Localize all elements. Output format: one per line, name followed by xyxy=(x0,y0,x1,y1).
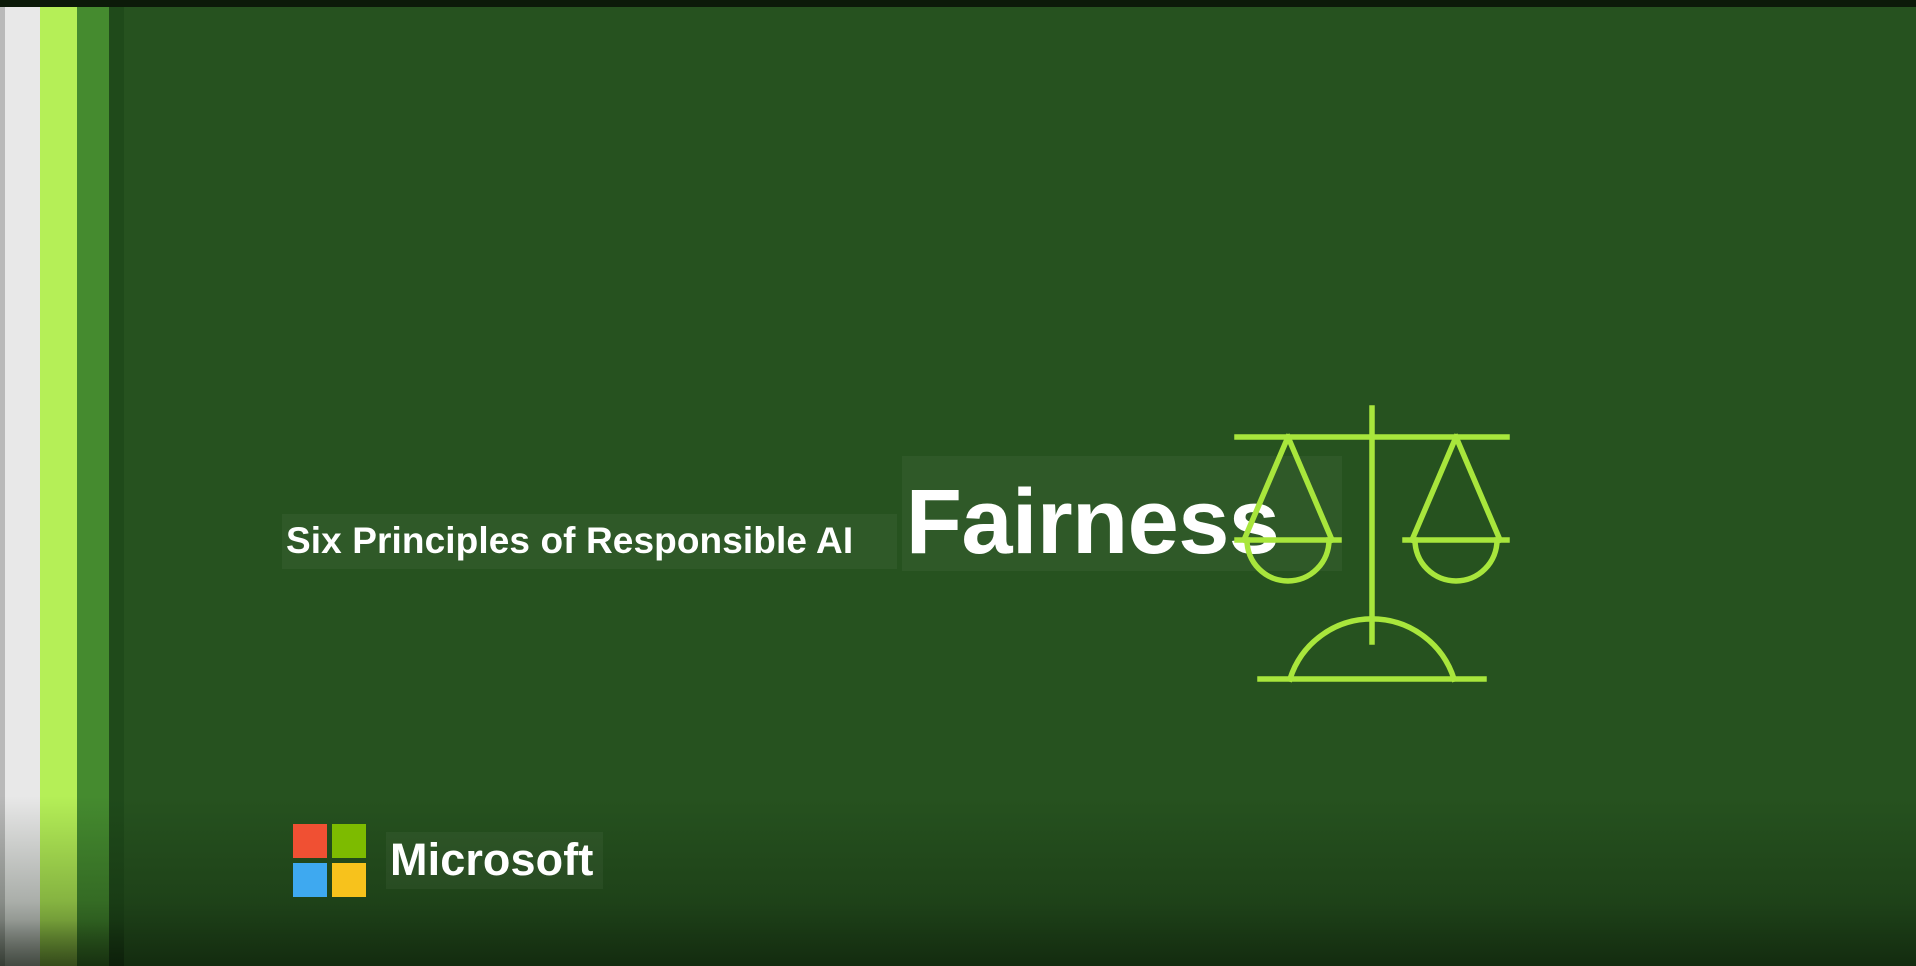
yellow-square-icon xyxy=(332,863,366,897)
scales-left-string-b xyxy=(1288,437,1332,540)
blue-square-icon xyxy=(293,863,327,897)
scales-svg xyxy=(1222,390,1522,690)
microsoft-logo xyxy=(293,824,366,897)
slide-text-block: Six Principles of Responsible AI Fairnes… xyxy=(282,443,1342,571)
subtitle-highlight: Six Principles of Responsible AI xyxy=(282,514,897,569)
green-square-icon xyxy=(332,824,366,858)
bottom-shade-overlay xyxy=(0,796,1916,966)
stripe-dark-green xyxy=(109,0,124,966)
microsoft-wordmark: Microsoft xyxy=(390,837,593,882)
scales-right-pan-bowl xyxy=(1415,540,1497,581)
stripe-mid-green xyxy=(77,0,109,966)
balance-scales-icon xyxy=(1222,390,1522,690)
slide-subtitle: Six Principles of Responsible AI xyxy=(286,521,853,560)
left-accent-stripes xyxy=(0,0,124,966)
scales-left-pan-bowl xyxy=(1247,540,1329,581)
stripe-white xyxy=(5,0,40,966)
red-square-icon xyxy=(293,824,327,858)
stripe-lime xyxy=(40,0,77,966)
presentation-slide: Six Principles of Responsible AI Fairnes… xyxy=(0,0,1916,966)
microsoft-wordmark-highlight: Microsoft xyxy=(386,832,603,889)
scales-right-string-b xyxy=(1456,437,1500,540)
scales-right-string-a xyxy=(1412,437,1456,540)
microsoft-signature: Microsoft xyxy=(293,824,603,897)
top-edge-strip xyxy=(0,0,1916,7)
scales-left-string-a xyxy=(1244,437,1288,540)
